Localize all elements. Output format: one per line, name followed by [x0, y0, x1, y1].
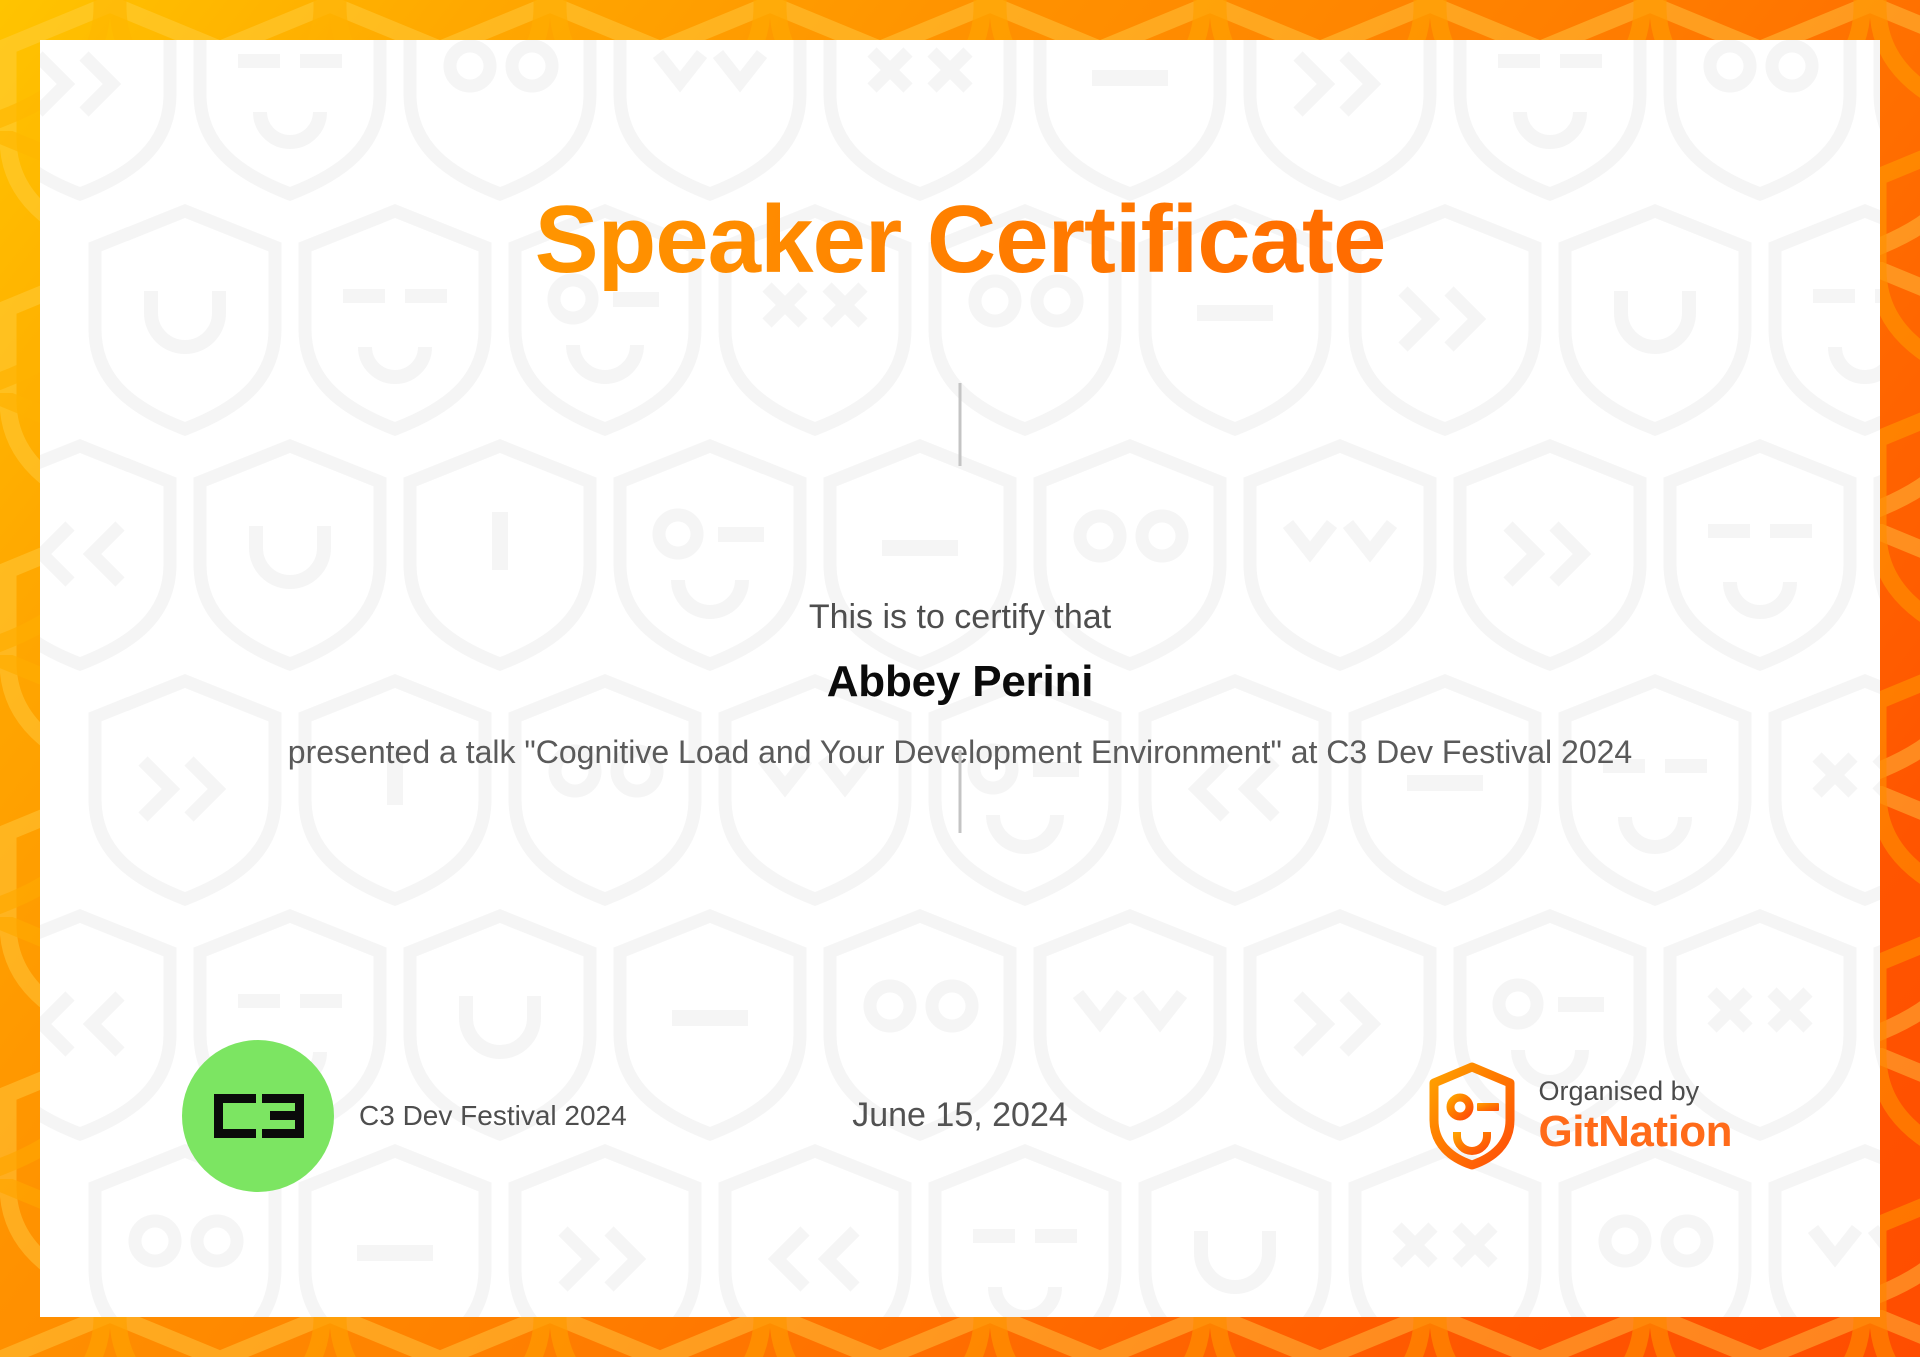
- page-title: Speaker Certificate: [535, 190, 1386, 291]
- organiser-text: Organised by GitNation: [1539, 1077, 1732, 1155]
- organiser-name: GitNation: [1539, 1109, 1732, 1155]
- divider-top: [959, 383, 962, 466]
- gitnation-shield-face-icon: [1427, 1062, 1517, 1170]
- certificate-card: Speaker Certificate This is to certify t…: [40, 40, 1880, 1317]
- recipient-name: Abbey Perini: [40, 657, 1880, 707]
- organised-by-label: Organised by: [1539, 1077, 1732, 1107]
- certify-statement: This is to certify that: [40, 598, 1880, 637]
- organiser-block: Organised by GitNation: [1427, 1062, 1732, 1170]
- certificate-frame: Speaker Certificate This is to certify t…: [0, 0, 1920, 1357]
- divider-bottom: [959, 750, 962, 833]
- certificate-footer: C3 Dev Festival 2024 June 15, 2024: [40, 1040, 1880, 1230]
- certificate-content: Speaker Certificate This is to certify t…: [40, 40, 1880, 1317]
